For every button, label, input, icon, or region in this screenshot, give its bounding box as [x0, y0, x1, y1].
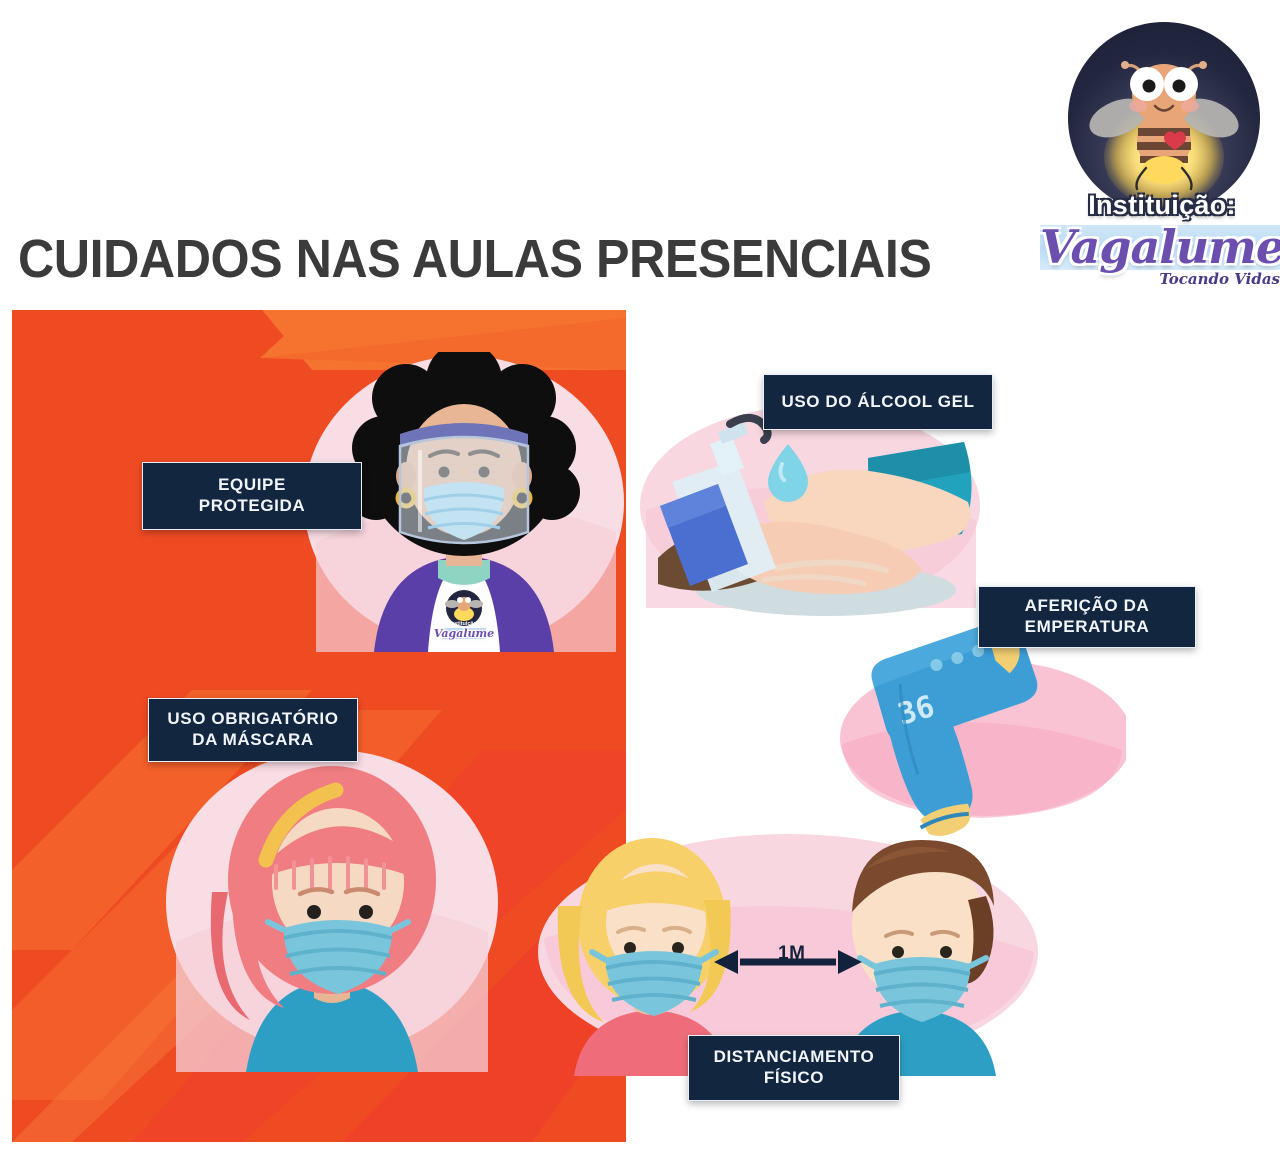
badge-equipe-protegida: EQUIPE PROTEGIDA: [142, 462, 362, 530]
logo-institution-label: Instituição:: [1040, 190, 1280, 221]
badge-alcool-gel: USO DO ÁLCOOL GEL: [763, 374, 993, 430]
badge-afericao-temperatura: AFERIÇÃO DA EMPERATURA: [978, 586, 1196, 648]
shirt-logo: Vagalume Instituição:: [434, 588, 494, 644]
logo-tagline: Tocando Vidas: [1159, 270, 1280, 288]
badge-distanciamento-fisico: DISTANCIAMENTO FÍSICO: [688, 1035, 900, 1101]
badge-uso-mascara: USO OBRIGATÓRIO DA MÁSCARA: [148, 698, 358, 762]
hand-sanitizer-illustration: [636, 398, 984, 618]
page-title: CUIDADOS NAS AULAS PRESENCIAIS: [18, 228, 931, 290]
institution-logo: Instituição: Vagalume Tocando Vidas: [1040, 22, 1280, 290]
thermometer-illustration: 36: [826, 626, 1126, 836]
logo-name: Vagalume: [1040, 220, 1280, 274]
svg-text:Vagalume: Vagalume: [434, 627, 494, 640]
firefly-icon: [1089, 42, 1239, 192]
logo-disc: [1068, 22, 1260, 214]
masked-girl-illustration: [162, 742, 502, 1072]
distance-value-label: 1M: [778, 943, 805, 965]
svg-text:Instituição:: Instituição:: [449, 621, 479, 627]
